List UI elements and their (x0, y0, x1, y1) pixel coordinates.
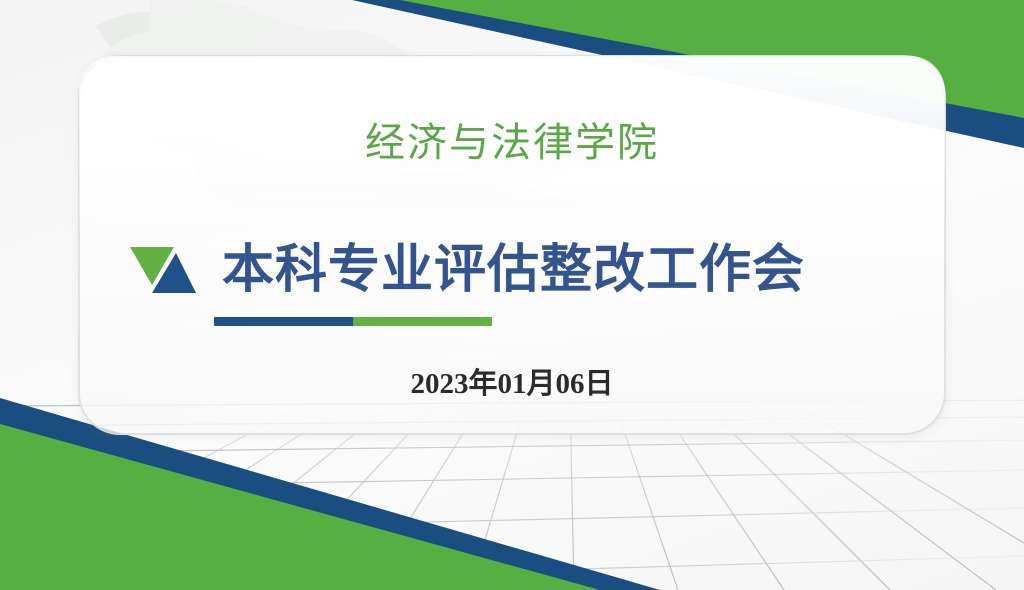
presentation-slide: 经济与法律学院 本科专业评估整改工作会 2023年01月06日 (0, 0, 1024, 590)
page-title: 本科专业评估整改工作会 (222, 244, 805, 296)
title-underline (214, 317, 492, 326)
underline-blue-segment (214, 317, 353, 326)
card-content: 经济与法律学院 本科专业评估整改工作会 2023年01月06日 (78, 55, 946, 435)
institution-subtitle: 经济与法律学院 (78, 110, 946, 168)
underline-green-segment (353, 317, 492, 326)
event-date: 2023年01月06日 (78, 360, 946, 402)
double-triangle-logo-icon (130, 245, 196, 295)
title-row: 本科专业评估整改工作会 (130, 240, 920, 300)
